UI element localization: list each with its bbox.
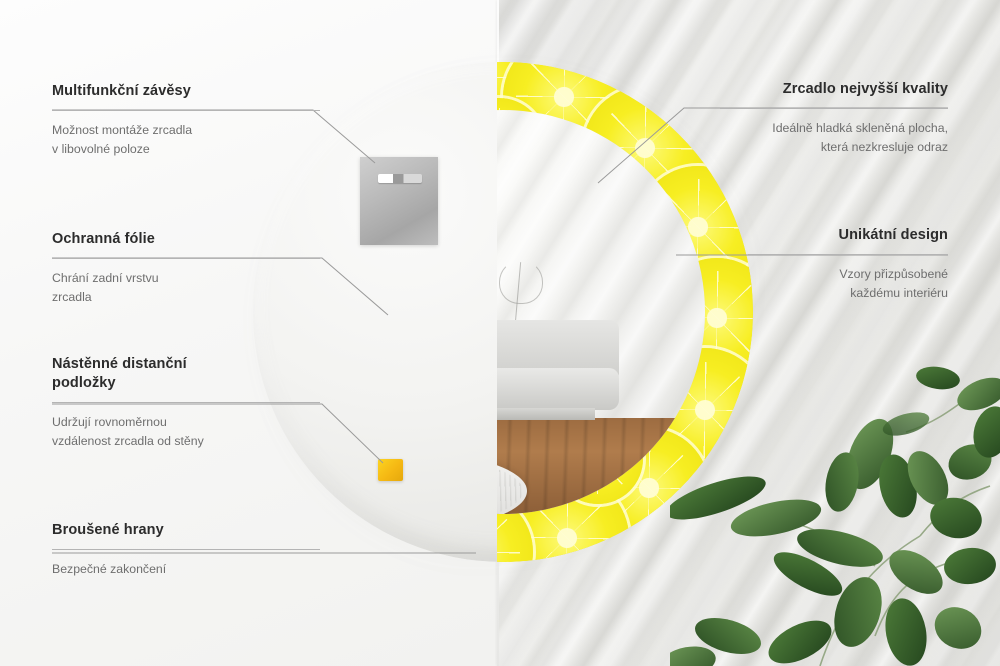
feature-block-brousene-hrany: Broušené hrany Bezpečné zakončení bbox=[52, 521, 320, 579]
desc-line-2: zrcadla bbox=[52, 290, 92, 304]
spacer-pad-marker bbox=[378, 459, 403, 481]
hanging-bracket-marker bbox=[360, 157, 438, 245]
feature-title: Unikátní design bbox=[748, 226, 948, 245]
desc-line-1: Chrání zadní vrstvu bbox=[52, 271, 159, 285]
feature-block-zrcadlo-kvality: Zrcadlo nejvyšší kvality Ideálně hladká … bbox=[720, 80, 948, 157]
title-line-2: podložky bbox=[52, 375, 116, 391]
title-divider bbox=[52, 110, 320, 111]
title-divider bbox=[52, 258, 320, 259]
feature-description: Chrání zadní vrstvu zrcadla bbox=[52, 269, 320, 306]
feature-title: Zrcadlo nejvyšší kvality bbox=[720, 80, 948, 99]
feature-title: Multifunkční závěsy bbox=[52, 82, 320, 101]
feature-block-multifunkcni-zavesy: Multifunkční závěsy Možnost montáže zrca… bbox=[52, 82, 320, 159]
feature-title: Ochranná fólie bbox=[52, 230, 320, 249]
title-divider bbox=[52, 402, 320, 403]
feature-description: Bezpečné zakončení bbox=[52, 560, 320, 579]
feature-block-unikatni-design: Unikátní design Vzory přizpůsobené každé… bbox=[748, 226, 948, 303]
desc-line-2: každému interiéru bbox=[850, 286, 948, 300]
bracket-slot bbox=[378, 174, 422, 183]
desc-line-1: Možnost montáže zrcadla bbox=[52, 123, 192, 137]
title-divider bbox=[52, 549, 320, 550]
feature-title: Nástěnné distanční podložky bbox=[52, 355, 320, 393]
desc-line-2: vzdálenost zrcadla od stěny bbox=[52, 434, 204, 448]
feature-description: Možnost montáže zrcadla v libovolné polo… bbox=[52, 121, 320, 158]
title-line-1: Nástěnné distanční bbox=[52, 356, 187, 372]
title-divider bbox=[748, 254, 948, 255]
feature-block-distancni-podlozky: Nástěnné distanční podložky Udržují rovn… bbox=[52, 355, 320, 451]
desc-line-2: která nezkresluje odraz bbox=[821, 140, 948, 154]
feature-description: Ideálně hladká skleněná plocha, která ne… bbox=[720, 119, 948, 156]
feature-block-ochranna-folie: Ochranná fólie Chrání zadní vrstvu zrcad… bbox=[52, 230, 320, 307]
mirror-disc bbox=[253, 62, 753, 562]
infographic-stage: Multifunkční závěsy Možnost montáže zrca… bbox=[0, 0, 1000, 666]
desc-line-1: Udržují rovnoměrnou bbox=[52, 415, 167, 429]
mirror-product bbox=[253, 62, 753, 562]
feature-description: Vzory přizpůsobené každému interiéru bbox=[748, 265, 948, 302]
desc-line-1: Vzory přizpůsobené bbox=[839, 267, 948, 281]
title-divider bbox=[720, 108, 948, 109]
pendant-lamp-shade bbox=[499, 260, 543, 304]
desc-line-1: Ideálně hladká skleněná plocha, bbox=[772, 121, 948, 135]
desc-line-2: v libovolné poloze bbox=[52, 142, 150, 156]
feature-description: Udržují rovnoměrnou vzdálenost zrcadla o… bbox=[52, 413, 320, 450]
feature-title: Broušené hrany bbox=[52, 521, 320, 540]
